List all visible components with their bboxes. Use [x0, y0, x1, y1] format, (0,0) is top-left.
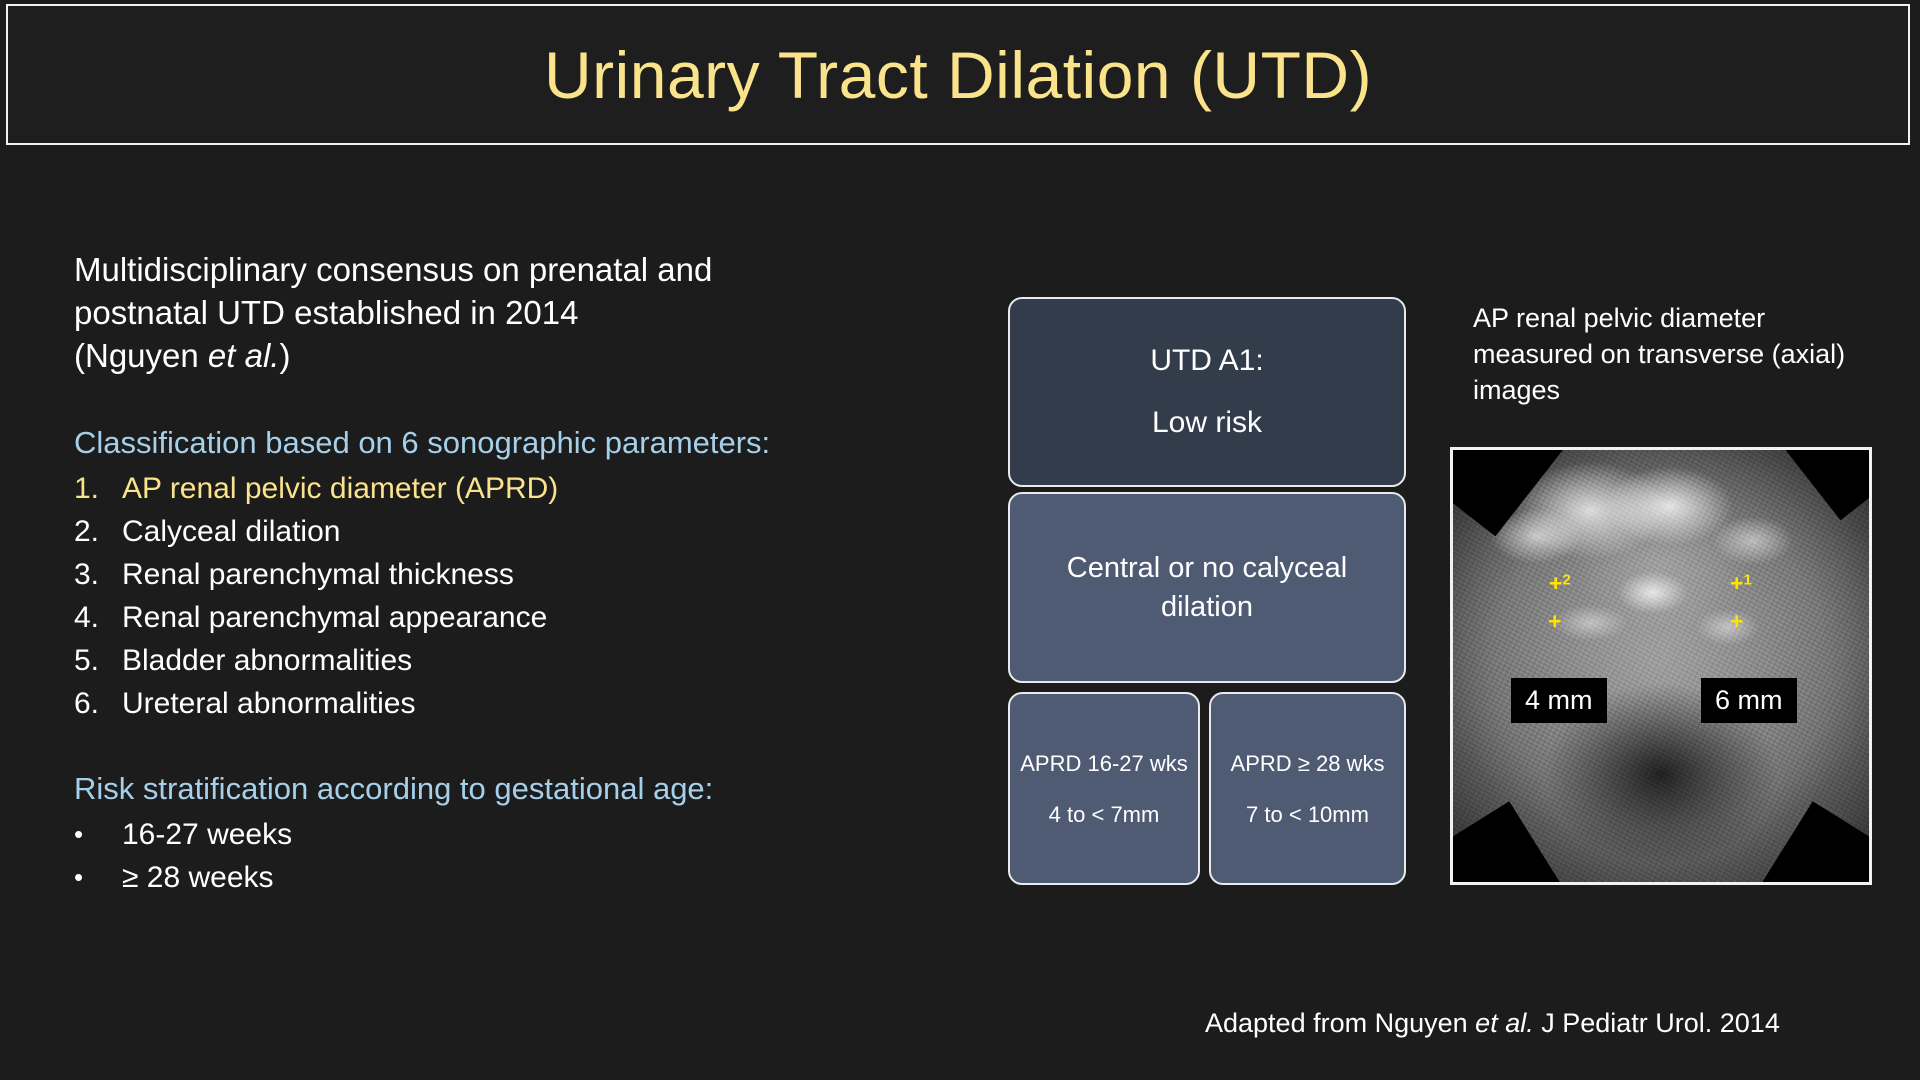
list-item-label: Bladder abnormalities	[122, 639, 412, 682]
bullet-icon: •	[74, 856, 122, 899]
caliper-cross-icon: +	[1730, 570, 1743, 596]
intro-line-1: Multidisciplinary consensus on prenatal …	[74, 251, 712, 288]
aprd-early-box: APRD 16-27 wks 4 to < 7mm	[1008, 692, 1200, 885]
list-item: 4. Renal parenchymal appearance	[74, 596, 914, 639]
intro-line-3-prefix: (Nguyen	[74, 337, 208, 374]
caliper-marker-1-lower: +	[1730, 610, 1743, 633]
measurement-label-left: 4 mm	[1511, 678, 1607, 723]
aprd-late-measure: 7 to < 10mm	[1246, 800, 1369, 829]
aprd-late-range-label: APRD ≥ 28 wks	[1231, 749, 1385, 778]
list-item-label: ≥ 28 weeks	[122, 856, 274, 899]
left-content-column: Multidisciplinary consensus on prenatal …	[74, 248, 914, 899]
aprd-late-box: APRD ≥ 28 wks 7 to < 10mm	[1209, 692, 1406, 885]
list-item-number: 6.	[74, 682, 122, 725]
utd-a1-title: UTD A1:	[1150, 341, 1263, 381]
list-item-number: 2.	[74, 510, 122, 553]
citation-prefix: Adapted from Nguyen	[1205, 1008, 1475, 1038]
list-item-label: Renal parenchymal appearance	[122, 596, 547, 639]
utd-a1-risk-level: Low risk	[1152, 403, 1262, 443]
list-item-number: 1.	[74, 467, 122, 510]
aprd-early-range-label: APRD 16-27 wks	[1020, 749, 1188, 778]
intro-paragraph: Multidisciplinary consensus on prenatal …	[74, 248, 914, 377]
risk-bullet-list: • 16-27 weeks • ≥ 28 weeks	[74, 813, 914, 899]
source-citation: Adapted from Nguyen et al. J Pediatr Uro…	[1205, 1006, 1780, 1040]
page-title: Urinary Tract Dilation (UTD)	[544, 42, 1372, 108]
caliper-marker-2-lower: +	[1548, 610, 1561, 633]
list-item: • ≥ 28 weeks	[74, 856, 914, 899]
calyceal-dilation-box: Central or no calyceal dilation	[1008, 492, 1406, 683]
caliper-marker-1: +1	[1730, 572, 1752, 595]
caliper-marker-2: +2	[1549, 572, 1571, 595]
intro-line-3-italic: et al.	[208, 337, 280, 374]
intro-line-3-suffix: )	[279, 337, 290, 374]
list-item-label: Renal parenchymal thickness	[122, 553, 514, 596]
utd-a1-box: UTD A1: Low risk	[1008, 297, 1406, 487]
list-item: 3. Renal parenchymal thickness	[74, 553, 914, 596]
slide-title-bar: Urinary Tract Dilation (UTD)	[6, 4, 1910, 145]
list-item-label: Ureteral abnormalities	[122, 682, 415, 725]
list-item-label: AP renal pelvic diameter (APRD)	[122, 467, 558, 510]
citation-suffix: J Pediatr Urol. 2014	[1534, 1008, 1780, 1038]
list-item-number: 4.	[74, 596, 122, 639]
list-item: 2. Calyceal dilation	[74, 510, 914, 553]
caliper-cross-icon: +	[1549, 570, 1562, 596]
ultrasound-caption: AP renal pelvic diameter measured on tra…	[1473, 300, 1873, 408]
ultrasound-image: +2 + +1 + 4 mm 6 mm	[1450, 447, 1872, 885]
sonographic-parameters-list: 1. AP renal pelvic diameter (APRD) 2. Ca…	[74, 467, 914, 725]
list-spacer	[74, 725, 914, 769]
list-item-number: 3.	[74, 553, 122, 596]
list-item: 1. AP renal pelvic diameter (APRD)	[74, 467, 914, 510]
list-item-label: Calyceal dilation	[122, 510, 340, 553]
list-item: 5. Bladder abnormalities	[74, 639, 914, 682]
caliper-cross-icon: +	[1548, 608, 1561, 634]
caliper-number-2: 2	[1562, 571, 1570, 588]
list-item: • 16-27 weeks	[74, 813, 914, 856]
measurement-label-right: 6 mm	[1701, 678, 1797, 723]
classification-heading: Classification based on 6 sonographic pa…	[74, 423, 914, 463]
list-item-label: 16-27 weeks	[122, 813, 292, 856]
bullet-icon: •	[74, 813, 122, 856]
caliper-cross-icon: +	[1730, 608, 1743, 634]
aprd-early-measure: 4 to < 7mm	[1049, 800, 1160, 829]
caliper-number-1: 1	[1743, 571, 1751, 588]
intro-line-2: postnatal UTD established in 2014	[74, 294, 578, 331]
list-item: 6. Ureteral abnormalities	[74, 682, 914, 725]
list-item-number: 5.	[74, 639, 122, 682]
citation-italic: et al.	[1475, 1008, 1534, 1038]
calyceal-dilation-text: Central or no calyceal dilation	[1042, 549, 1372, 627]
risk-stratification-heading: Risk stratification according to gestati…	[74, 769, 914, 809]
